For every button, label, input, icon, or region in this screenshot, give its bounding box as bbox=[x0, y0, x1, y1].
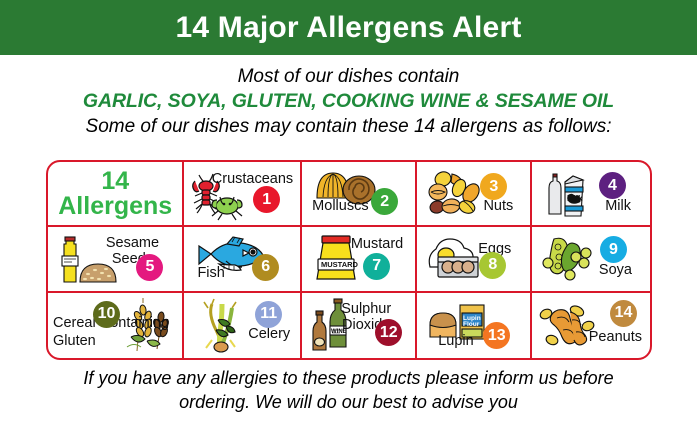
allergen-label: Milk bbox=[605, 198, 631, 214]
soya-beans-icon bbox=[540, 233, 598, 288]
allergen-table: 14 Allergens bbox=[46, 160, 652, 360]
subtitle-block: Most of our dishes contain GARLIC, SOYA,… bbox=[0, 55, 697, 139]
allergen-number-badge: 10 bbox=[93, 301, 120, 328]
allergen-label: Peanuts bbox=[589, 329, 642, 345]
allergen-number-badge: 6 bbox=[252, 254, 279, 281]
allergen-number-badge: 11 bbox=[255, 301, 282, 328]
grid-title-cell: 14 Allergens bbox=[48, 162, 184, 227]
allergen-label: Mustard bbox=[351, 236, 403, 252]
allergen-grid: 14 Allergens bbox=[46, 160, 652, 360]
svg-text:Milk: Milk bbox=[567, 194, 583, 203]
allergen-number-badge: 8 bbox=[479, 252, 506, 279]
allergen-number-badge: 4 bbox=[599, 172, 626, 199]
milk-carton-icon: Milk bbox=[541, 168, 597, 225]
subtitle-line-3: Some of our dishes may contain these 14 … bbox=[0, 114, 697, 139]
svg-text:MUSTARD: MUSTARD bbox=[321, 260, 359, 269]
subtitle-line-2-emphasis: GARLIC, SOYA, GLUTEN, COOKING WINE & SES… bbox=[0, 89, 697, 114]
allergen-cell-sesame-seeds[interactable]: Sesame Seeds 5 bbox=[48, 227, 184, 292]
footer-line-2: ordering. We will do our best to advise … bbox=[0, 390, 697, 414]
allergen-number-badge: 9 bbox=[600, 236, 627, 263]
allergen-cell-nuts[interactable]: Nuts 3 bbox=[417, 162, 532, 227]
allergen-number-badge: 2 bbox=[371, 188, 398, 215]
allergen-cell-celery[interactable]: Celery 11 bbox=[184, 293, 302, 358]
allergen-cell-peanuts[interactable]: Peanuts 14 bbox=[532, 293, 650, 358]
allergen-poster: 14 Major Allergens Alert Most of our dis… bbox=[0, 0, 697, 429]
subtitle-line-1: Most of our dishes contain bbox=[0, 64, 697, 89]
celery-icon bbox=[194, 298, 250, 358]
allergen-label: Fish bbox=[197, 265, 224, 281]
allergen-cell-mustard[interactable]: MUSTARD Mustard 7 bbox=[302, 227, 417, 292]
allergen-label: Molluscs bbox=[312, 198, 368, 214]
allergen-label: Lupin bbox=[438, 333, 473, 349]
peanuts-icon bbox=[538, 302, 596, 351]
poster-header: 14 Major Allergens Alert bbox=[0, 0, 697, 55]
allergen-label: Nuts bbox=[483, 198, 513, 214]
allergen-number-badge: 5 bbox=[136, 254, 163, 281]
allergen-cell-sulphur-dioxide[interactable]: WINE Sulphur Dioxide 12 bbox=[302, 293, 417, 358]
table-title-number: 14 bbox=[101, 167, 129, 195]
allergen-label: Crustaceans bbox=[212, 171, 293, 187]
mixed-nuts-icon bbox=[425, 170, 485, 223]
table-title: 14 Allergens bbox=[58, 169, 172, 219]
allergen-cell-soya[interactable]: Soya 9 bbox=[532, 227, 650, 292]
poster-footer: If you have any allergies to these produ… bbox=[0, 366, 697, 414]
allergen-cell-lupin[interactable]: Lupin Flour Lupin 13 bbox=[417, 293, 532, 358]
allergen-number-badge: 7 bbox=[363, 253, 390, 280]
allergen-cell-eggs[interactable]: Eggs 8 bbox=[417, 227, 532, 292]
page-title: 14 Major Allergens Alert bbox=[175, 11, 521, 45]
allergen-number-badge: 14 bbox=[610, 300, 637, 327]
svg-text:Flour: Flour bbox=[463, 321, 480, 328]
table-title-word: Allergens bbox=[58, 192, 172, 220]
allergen-number-badge: 3 bbox=[480, 173, 507, 200]
allergen-cell-molluscs[interactable]: Molluscs 2 bbox=[302, 162, 417, 227]
allergen-cell-fish[interactable]: Fish 6 bbox=[184, 227, 302, 292]
allergen-cell-cereal-gluten[interactable]: Cereal Containing Gluten 10 bbox=[48, 293, 184, 358]
allergen-number-badge: 13 bbox=[483, 322, 510, 349]
allergen-cell-milk[interactable]: Milk Milk 4 bbox=[532, 162, 650, 227]
footer-line-1: If you have any allergies to these produ… bbox=[0, 366, 697, 390]
allergen-number-badge: 12 bbox=[375, 319, 402, 346]
egg-carton-icon bbox=[424, 233, 486, 288]
allergen-label: Soya bbox=[599, 262, 632, 278]
allergen-cell-crustaceans[interactable]: Crustaceans 1 bbox=[184, 162, 302, 227]
allergen-number-badge: 1 bbox=[253, 186, 280, 213]
allergen-label: Celery bbox=[248, 326, 290, 342]
